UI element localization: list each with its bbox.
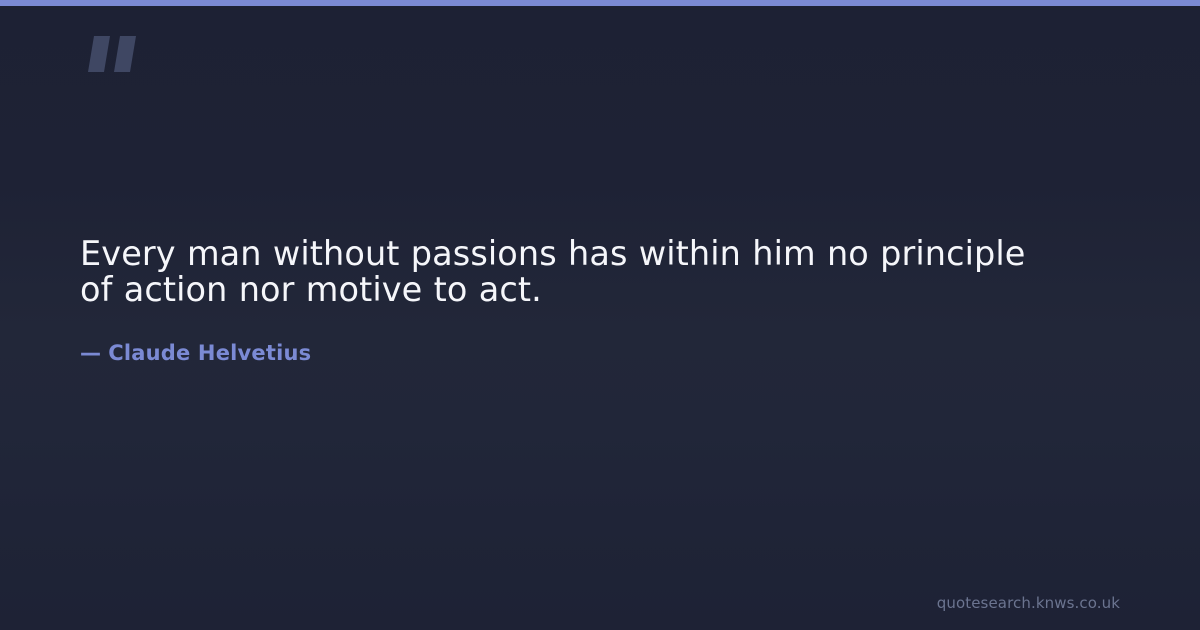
quote-text: Every man without passions has within hi…: [80, 236, 1040, 308]
source-url-label: quotesearch.knws.co.uk: [937, 593, 1120, 613]
quote-attribution: —Claude Helvetius: [80, 340, 311, 366]
open-quote-icon: [80, 10, 170, 100]
attribution-author: Claude Helvetius: [108, 341, 311, 365]
quote-body: Every man without passions has within hi…: [80, 236, 1040, 308]
top-accent-bar: [0, 0, 1200, 6]
attribution-dash: —: [80, 341, 101, 365]
quote-card: Every man without passions has within hi…: [0, 0, 1200, 630]
